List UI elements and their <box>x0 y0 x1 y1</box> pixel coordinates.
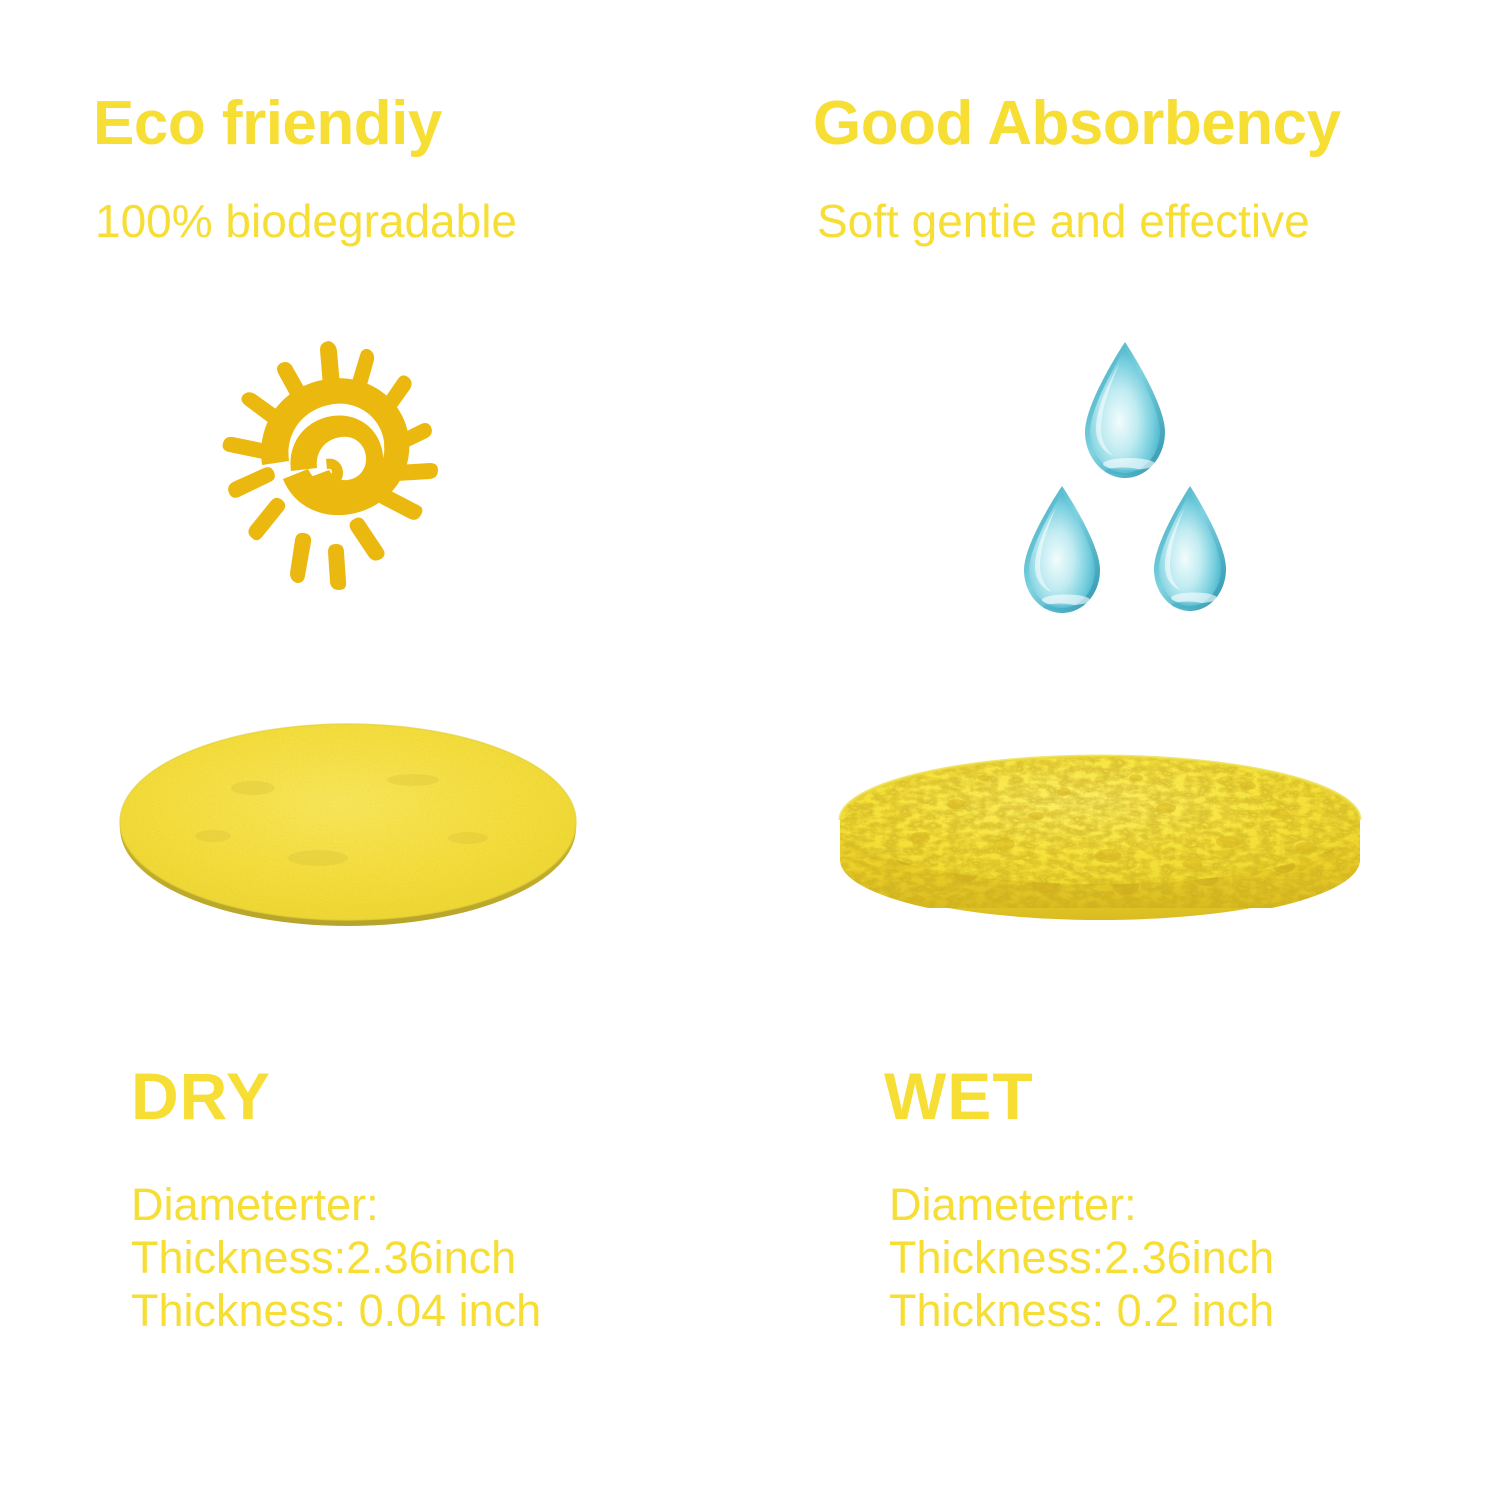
wet-spec-line: Thickness: 0.2 inch <box>889 1284 1274 1337</box>
water-droplet-icon <box>1073 340 1177 482</box>
sun-icon <box>205 333 455 598</box>
wet-sponge-image <box>836 748 1364 948</box>
water-droplet-icon <box>1144 484 1236 615</box>
right-headline: Good Absorbency <box>813 93 1341 155</box>
product-infographic: Eco friendiy 100% biodegradable <box>0 0 1500 1500</box>
right-subheadline: Soft gentie and effective <box>817 198 1310 244</box>
dry-spec-line: Thickness: 0.04 inch <box>131 1284 541 1337</box>
dry-state-label: DRY <box>131 1063 271 1129</box>
wet-spec-line: Thickness:2.36inch <box>889 1231 1274 1284</box>
wet-state-label: WET <box>884 1063 1034 1129</box>
dry-spec-list: Diameterter: Thickness:2.36inch Thicknes… <box>131 1178 541 1337</box>
left-headline: Eco friendiy <box>93 93 442 155</box>
dry-sponge-image <box>113 718 583 930</box>
wet-spec-line: Diameterter: <box>889 1178 1274 1231</box>
dry-spec-line: Thickness:2.36inch <box>131 1231 541 1284</box>
dry-spec-line: Diameterter: <box>131 1178 541 1231</box>
wet-spec-list: Diameterter: Thickness:2.36inch Thicknes… <box>889 1178 1274 1337</box>
left-subheadline: 100% biodegradable <box>95 198 517 244</box>
water-droplet-icon <box>1013 484 1111 617</box>
